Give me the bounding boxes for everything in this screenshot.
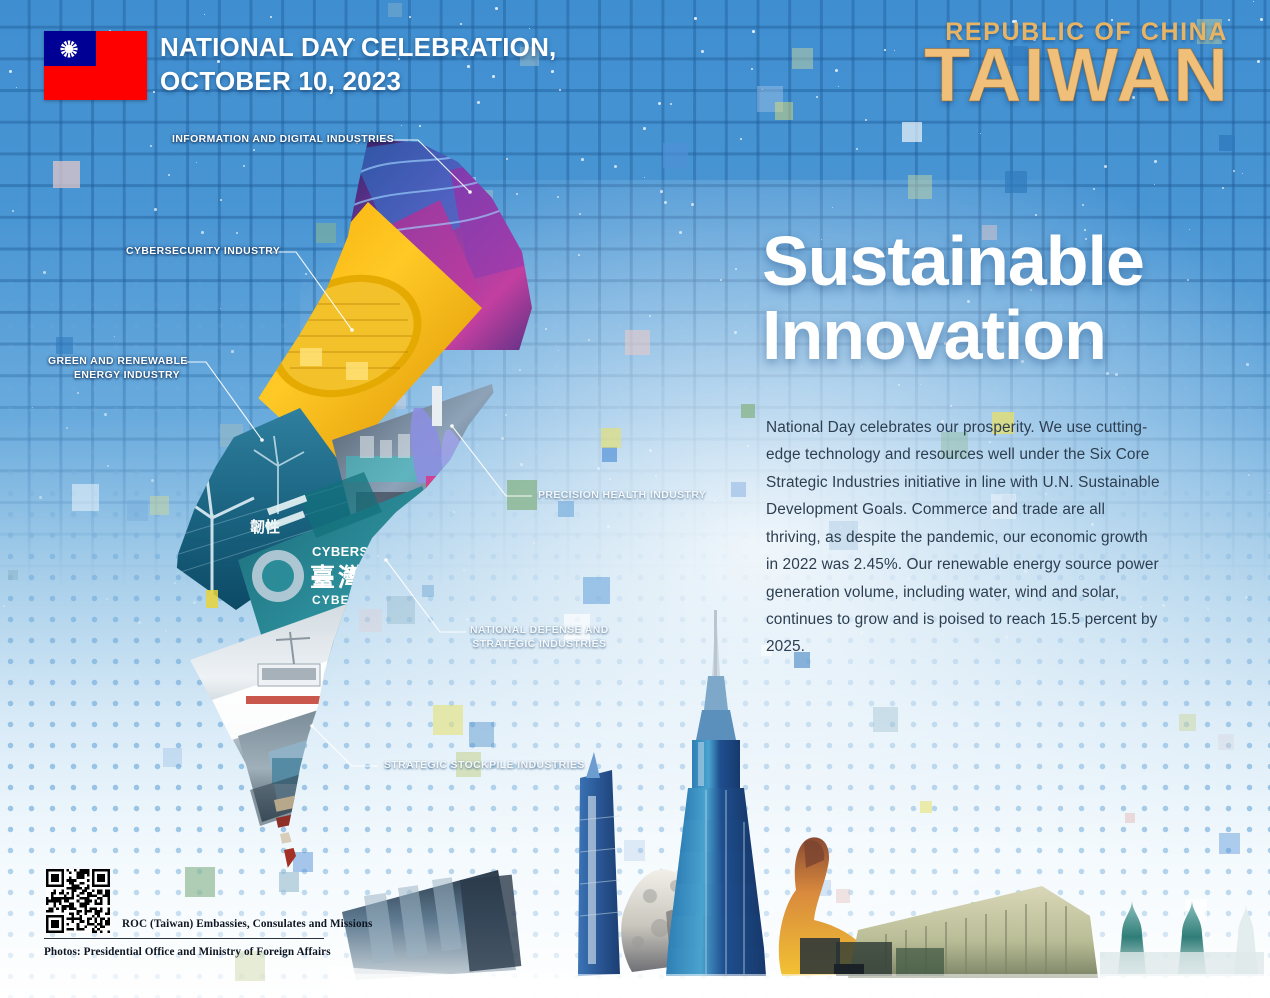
svg-text:CYBERSEC 2023: CYBERSEC 2023 — [312, 544, 422, 559]
title-line-1: NATIONAL DAY CELEBRATION, — [160, 30, 580, 64]
callout-label: INFORMATION AND DIGITAL INDUSTRIES — [172, 134, 394, 145]
landmark-pagodas — [1100, 900, 1270, 976]
callout-cybersecurity-industry: CYBERSECURITY INDUSTRY — [126, 245, 280, 259]
country-name: TAIWAN — [924, 38, 1230, 114]
qr-code-graphic — [46, 869, 110, 933]
page-title: NATIONAL DAY CELEBRATION, OCTOBER 10, 20… — [160, 30, 580, 99]
callout-label: CYBERSECURITY INDUSTRY — [126, 246, 280, 257]
national-day-poster: NATIONAL DAY CELEBRATION, OCTOBER 10, 20… — [0, 0, 1270, 998]
headline-line-2: Innovation — [762, 298, 1202, 372]
qr-code[interactable] — [46, 869, 110, 933]
callout-label-line-1: GREEN AND RENEWABLE — [48, 355, 180, 369]
landmark-taipei-101 — [666, 610, 766, 976]
hero-headline: Sustainable Innovation — [762, 224, 1202, 372]
taiwan-landmarks-skyline — [330, 590, 1270, 998]
callout-label: PRECISION HEALTH INDUSTRY — [538, 490, 706, 501]
footer-photo-credit: Photos: Presidential Office and Ministry… — [44, 946, 331, 958]
footer-divider — [44, 938, 324, 939]
title-line-2: OCTOBER 10, 2023 — [160, 64, 580, 98]
callout-information-and-digital-industries: INFORMATION AND DIGITAL INDUSTRIES — [172, 133, 394, 147]
footer-organization: ROC (Taiwan) Embassies, Consulates and M… — [122, 918, 372, 930]
headline-line-1: Sustainable — [762, 224, 1202, 298]
white-sun-icon — [58, 38, 80, 60]
landmark-tower-85 — [578, 752, 620, 976]
callout-green-and-renewable-energy-industry: GREEN AND RENEWABLE ENERGY INDUSTRY — [48, 355, 180, 383]
svg-text:臺灣資安館: 臺灣資安館 — [310, 563, 450, 592]
callout-label-line-2: ENERGY INDUSTRY — [48, 369, 180, 383]
skyline-graphic — [330, 590, 1270, 998]
taipei-101-segments — [666, 788, 766, 976]
roc-flag-icon — [44, 31, 147, 100]
callout-precision-health-industry: PRECISION HEALTH INDUSTRY — [538, 489, 706, 503]
